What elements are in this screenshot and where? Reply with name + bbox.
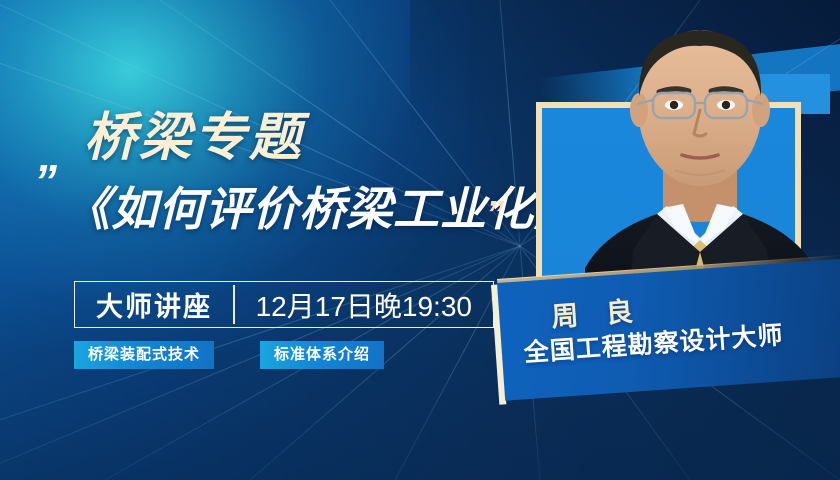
lecture-datetime: 12月17日晚19:30 [235, 282, 493, 327]
promo-poster: ” 桥梁专题 《如何评价桥梁工业化》 ” 大师讲座 12月17日晚19:30 桥… [0, 0, 840, 480]
speaker-nameplate: 周 良 全国工程勘察设计大师 [497, 259, 840, 401]
quote-open-mark: ” [34, 158, 55, 204]
topic-tag[interactable]: 桥梁装配式技术 [74, 341, 214, 369]
page-title: 桥梁专题 [84, 95, 304, 170]
topic-tag-list: 桥梁装配式技术 标准体系介绍 [74, 341, 384, 369]
lecture-type-label: 大师讲座 [75, 282, 233, 327]
topic-tag[interactable]: 标准体系介绍 [260, 341, 384, 369]
lecture-info-box: 大师讲座 12月17日晚19:30 [74, 281, 494, 328]
